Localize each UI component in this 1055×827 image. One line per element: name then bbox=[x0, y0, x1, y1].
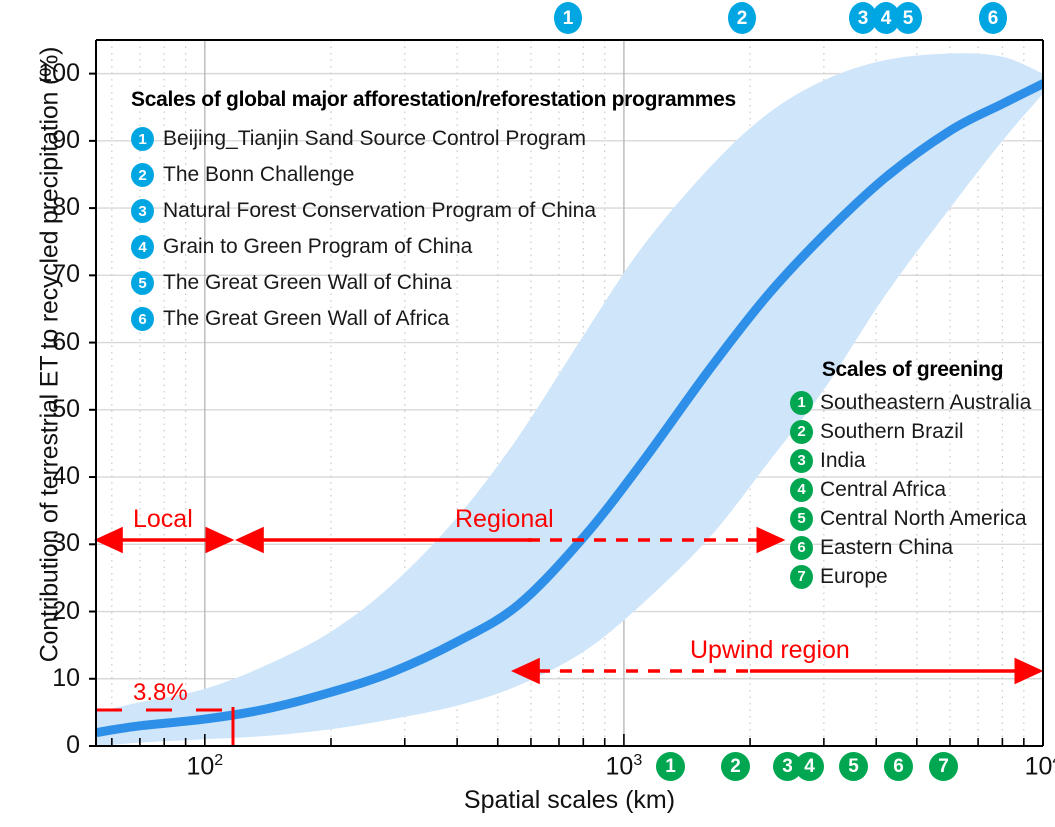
legend-item-label: Central North America bbox=[820, 507, 1027, 531]
legend-item-badge: 1 bbox=[790, 391, 813, 415]
legend-item[interactable]: 2Southern Brazil bbox=[790, 417, 1035, 446]
bottom-marker-badge[interactable]: 7 bbox=[929, 752, 958, 781]
chart-figure: Contribution of terrestrial ET to recycl… bbox=[0, 0, 1055, 827]
top-marker-badge[interactable]: 6 bbox=[979, 2, 1007, 34]
bottom-marker-badge[interactable]: 4 bbox=[795, 752, 824, 781]
legend-item[interactable]: 5Central North America bbox=[790, 504, 1035, 533]
legend-item-badge: 1 bbox=[131, 127, 154, 151]
legend-item-label: Europe bbox=[820, 565, 888, 589]
legend-item-label: Eastern China bbox=[820, 536, 953, 560]
legend-item-badge: 5 bbox=[131, 271, 154, 295]
legend-afforestation-title: Scales of global major afforestation/ref… bbox=[131, 88, 736, 112]
y-tick-marks bbox=[89, 74, 96, 746]
y-tick-label: 0 bbox=[8, 731, 80, 760]
y-tick-label: 100 bbox=[8, 59, 80, 88]
legend-item[interactable]: 1Beijing_Tianjin Sand Source Control Pro… bbox=[131, 121, 736, 157]
legend-item[interactable]: 2The Bonn Challenge bbox=[131, 157, 736, 193]
top-marker-badge[interactable]: 5 bbox=[894, 2, 922, 34]
bottom-marker-badge[interactable]: 2 bbox=[721, 752, 750, 781]
legend-item-badge: 3 bbox=[131, 199, 154, 223]
legend-greening-title: Scales of greening bbox=[790, 358, 1035, 382]
legend-item-label: The Great Green Wall of China bbox=[163, 271, 452, 295]
legend-item[interactable]: 1Southeastern Australia bbox=[790, 388, 1035, 417]
x-tick-label: 104 bbox=[1011, 752, 1055, 781]
legend-item-label: Southeastern Australia bbox=[820, 391, 1031, 415]
y-tick-label: 10 bbox=[8, 664, 80, 693]
y-tick-label: 30 bbox=[8, 529, 80, 558]
y-tick-label: 70 bbox=[8, 260, 80, 289]
y-tick-label: 40 bbox=[8, 462, 80, 491]
x-tick-label: 103 bbox=[592, 752, 656, 781]
y-tick-label: 80 bbox=[8, 193, 80, 222]
legend-greening: Scales of greening 1Southeastern Austral… bbox=[790, 358, 1035, 591]
legend-item-badge: 5 bbox=[790, 507, 813, 531]
legend-item[interactable]: 5The Great Green Wall of China bbox=[131, 265, 736, 301]
bottom-marker-badge[interactable]: 6 bbox=[884, 752, 913, 781]
legend-item-badge: 4 bbox=[790, 478, 813, 502]
legend-item-badge: 7 bbox=[790, 565, 813, 589]
bottom-marker-badge[interactable]: 1 bbox=[656, 752, 685, 781]
legend-item-badge: 2 bbox=[131, 163, 154, 187]
legend-item[interactable]: 4Central Africa bbox=[790, 475, 1035, 504]
legend-item[interactable]: 6Eastern China bbox=[790, 533, 1035, 562]
bottom-marker-badge[interactable]: 5 bbox=[839, 752, 868, 781]
legend-item[interactable]: 6The Great Green Wall of Africa bbox=[131, 301, 736, 337]
annotation-local: Local bbox=[133, 505, 193, 534]
annotation-upwind: Upwind region bbox=[690, 636, 850, 665]
legend-item-label: The Great Green Wall of Africa bbox=[163, 307, 449, 331]
legend-item-badge: 3 bbox=[790, 449, 813, 473]
legend-item-badge: 2 bbox=[790, 420, 813, 444]
legend-item[interactable]: 4Grain to Green Program of China bbox=[131, 229, 736, 265]
legend-item-badge: 6 bbox=[790, 536, 813, 560]
y-tick-label: 50 bbox=[8, 395, 80, 424]
y-tick-label: 60 bbox=[8, 328, 80, 357]
legend-item[interactable]: 7Europe bbox=[790, 562, 1035, 591]
legend-afforestation: Scales of global major afforestation/ref… bbox=[131, 88, 736, 337]
legend-item-badge: 4 bbox=[131, 235, 154, 259]
y-tick-label: 90 bbox=[8, 126, 80, 155]
legend-item-label: India bbox=[820, 449, 866, 473]
x-axis-label: Spatial scales (km) bbox=[96, 786, 1043, 815]
legend-item-label: Grain to Green Program of China bbox=[163, 235, 472, 259]
top-marker-badge[interactable]: 2 bbox=[728, 2, 756, 34]
x-tick-label: 102 bbox=[173, 752, 237, 781]
legend-item-label: The Bonn Challenge bbox=[163, 163, 354, 187]
y-tick-label: 20 bbox=[8, 597, 80, 626]
legend-item-label: Southern Brazil bbox=[820, 420, 964, 444]
legend-item[interactable]: 3India bbox=[790, 446, 1035, 475]
annotation-percent-callout: 3.8% bbox=[133, 679, 188, 707]
legend-item-label: Natural Forest Conservation Program of C… bbox=[163, 199, 596, 223]
legend-item-label: Beijing_Tianjin Sand Source Control Prog… bbox=[163, 127, 586, 151]
legend-item-badge: 6 bbox=[131, 307, 154, 331]
top-marker-badge[interactable]: 1 bbox=[554, 2, 582, 34]
legend-item[interactable]: 3Natural Forest Conservation Program of … bbox=[131, 193, 736, 229]
annotation-regional: Regional bbox=[455, 505, 554, 534]
legend-item-label: Central Africa bbox=[820, 478, 946, 502]
